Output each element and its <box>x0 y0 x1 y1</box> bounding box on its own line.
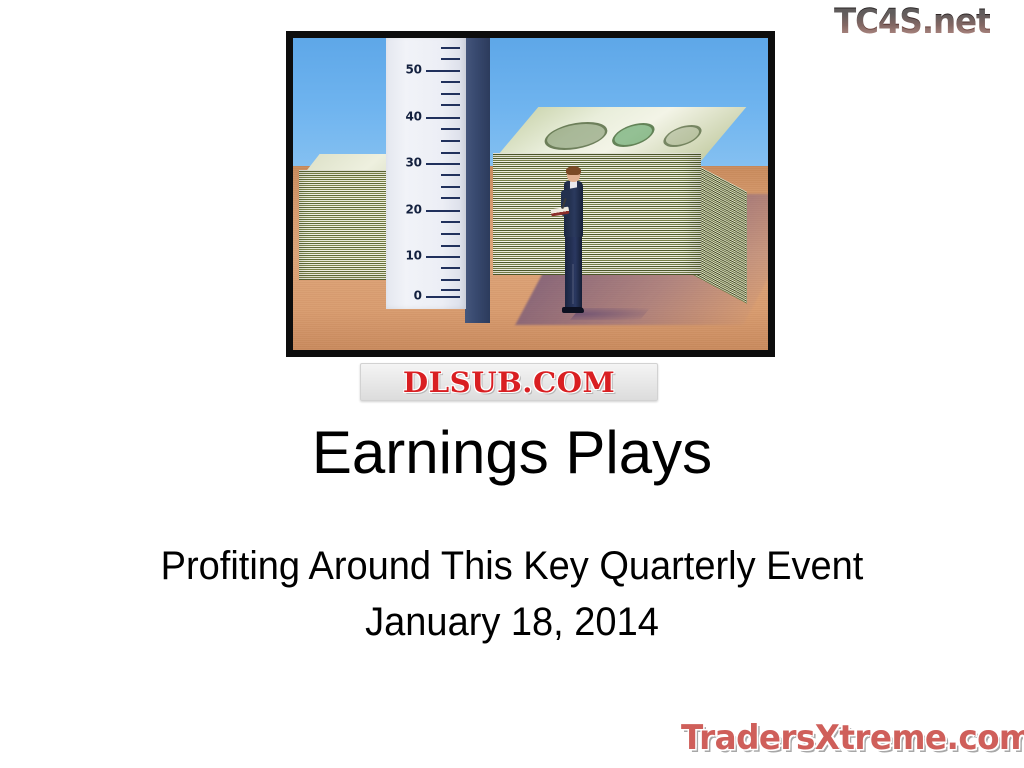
ruler-tick-minor <box>441 47 460 49</box>
bill-corner-oval <box>656 125 707 146</box>
illustration-canvas: 50403020100 <box>293 38 768 350</box>
slide-root: TC4S.net <box>0 0 1024 768</box>
ruler-tick-minor <box>441 152 460 154</box>
ruler-tick-minor <box>441 93 460 95</box>
ruler-tick-minor <box>441 289 460 291</box>
figure-leg-gap <box>572 264 574 304</box>
ruler-tick-minor <box>441 58 460 60</box>
bill-portrait-oval <box>535 122 616 150</box>
ruler-tick-major <box>426 70 460 72</box>
businessman-figure <box>561 168 587 316</box>
watermark-tradersxtreme: TradersXtreme.com <box>681 716 1024 760</box>
ruler-tick-minor <box>441 279 460 281</box>
ruler-tick-minor <box>441 140 460 142</box>
ruler-tick-label: 50 <box>406 63 422 77</box>
large-money-stack <box>493 153 701 275</box>
ruler-tick-major <box>426 117 460 119</box>
ruler-tick-major <box>426 296 460 298</box>
ruler-tick-major <box>426 256 460 258</box>
ruler-tick-label: 0 <box>414 288 422 302</box>
illustration-image: 50403020100 <box>286 31 775 357</box>
figure-shoes <box>562 307 584 313</box>
ruler-tick-label: 30 <box>406 156 422 170</box>
page-title: Earnings Plays <box>0 417 1024 489</box>
bill-seal-oval <box>604 123 661 146</box>
ruler-tick-minor <box>441 128 460 130</box>
ruler-ticks: 50403020100 <box>386 38 466 309</box>
ruler-tick-minor <box>441 104 460 106</box>
ruler-tick-major <box>426 210 460 212</box>
ruler-tick-minor <box>441 245 460 247</box>
ruler-tick-label: 40 <box>406 109 422 123</box>
subtitle-line-2: January 18, 2014 <box>26 594 999 650</box>
ruler-side-edge <box>465 38 490 323</box>
ruler-tick-minor <box>441 221 460 223</box>
ruler-tick-minor <box>441 267 460 269</box>
ruler-tick-minor <box>441 197 460 199</box>
ruler-tick-minor <box>441 233 460 235</box>
ruler-tick-label: 10 <box>406 249 422 263</box>
watermark-dlsub: DLSUB.COM <box>360 363 658 401</box>
ruler-tick-minor <box>441 81 460 83</box>
figure-hair <box>566 166 581 175</box>
ruler-tick-minor <box>441 174 460 176</box>
page-subtitle: Profiting Around This Key Quarterly Even… <box>0 538 1024 650</box>
watermark-tc4s: TC4S.net <box>834 2 990 42</box>
measuring-ruler: 50403020100 <box>386 38 466 309</box>
watermark-dlsub-label: DLSUB.COM <box>403 366 615 399</box>
ruler-tick-minor <box>441 186 460 188</box>
subtitle-line-1: Profiting Around This Key Quarterly Even… <box>26 538 999 594</box>
ruler-tick-label: 20 <box>406 202 422 216</box>
ruler-tick-major <box>426 163 460 165</box>
large-stack-face <box>493 153 701 275</box>
